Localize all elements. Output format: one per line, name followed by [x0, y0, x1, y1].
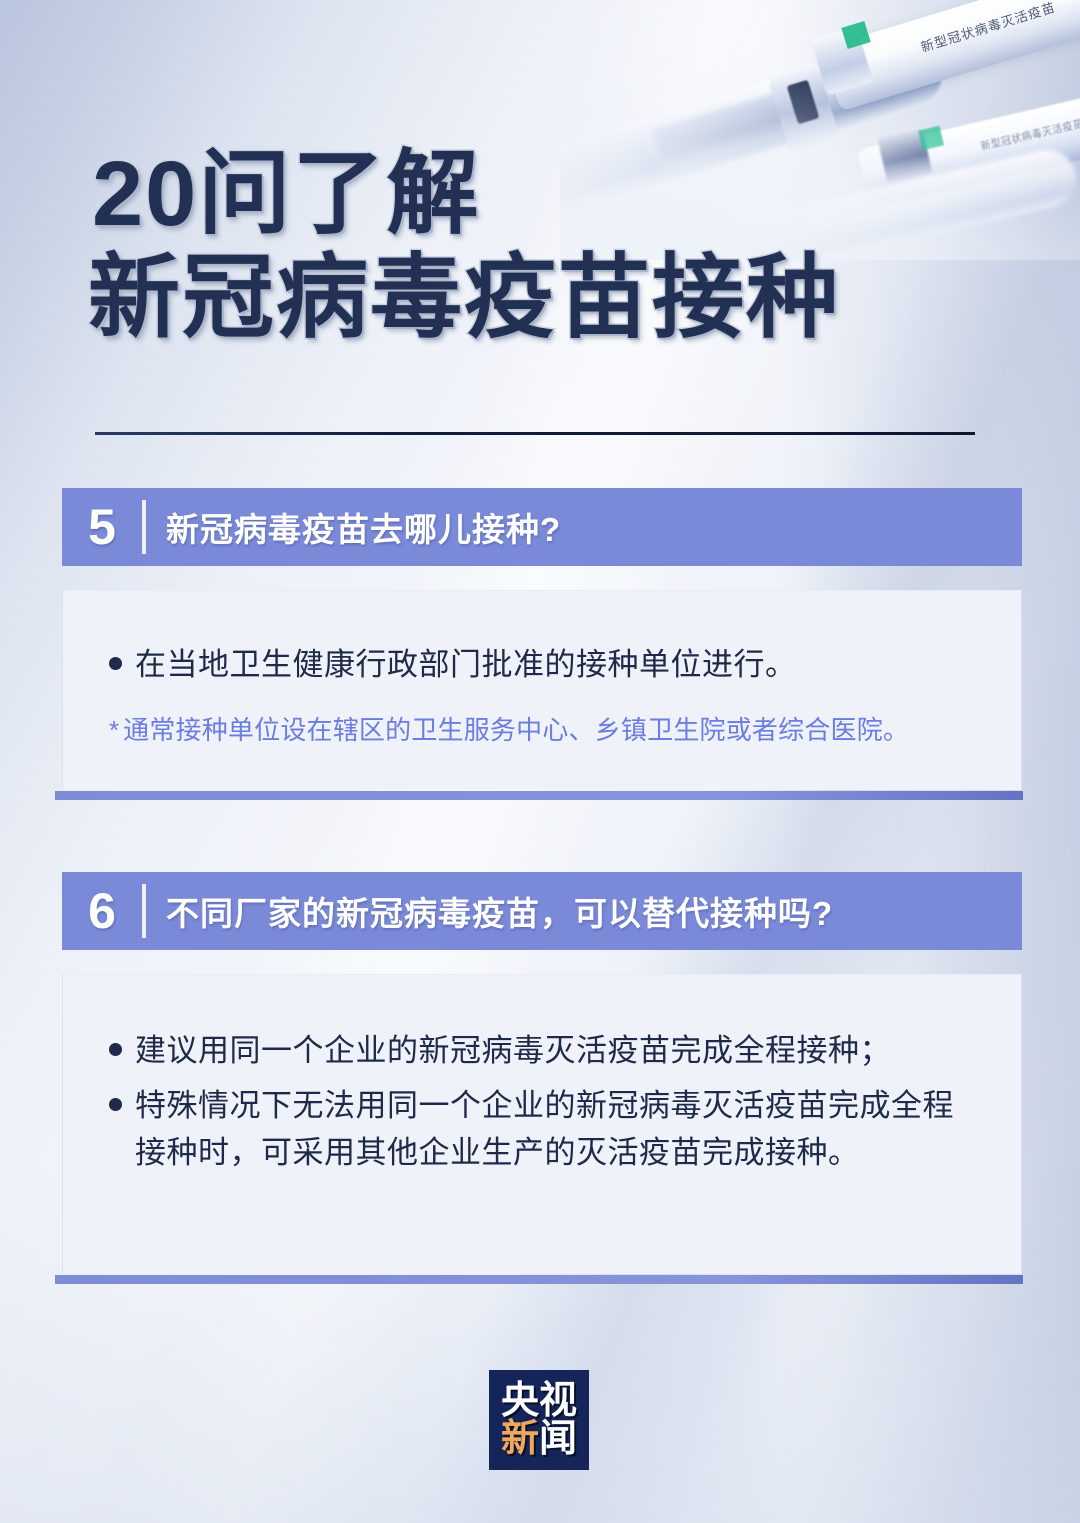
qa-block-5: 5 新冠病毒疫苗去哪儿接种? 在当地卫生健康行政部门批准的接种单位进行。 * 通…	[62, 488, 1022, 790]
title-line-2: 新冠病毒疫苗接种	[88, 244, 988, 352]
title-divider-rule	[95, 432, 975, 435]
asterisk-icon: *	[109, 710, 119, 750]
logo-char-yang: 央	[501, 1382, 539, 1420]
question-number-6: 6	[62, 884, 142, 938]
answer-bullet-text: 建议用同一个企业的新冠病毒灭活疫苗完成全程接种；	[135, 1027, 985, 1074]
answer-bullet: 在当地卫生健康行政部门批准的接种单位进行。	[109, 641, 985, 688]
question-header-6: 6 不同厂家的新冠病毒疫苗，可以替代接种吗?	[62, 872, 1022, 950]
answer-bullet: 建议用同一个企业的新冠病毒灭活疫苗完成全程接种；	[109, 1027, 985, 1074]
logo-char-xin: 新	[501, 1420, 539, 1458]
question-divider-6	[142, 884, 146, 938]
answer-bullet: 特殊情况下无法用同一个企业的新冠病毒灭活疫苗完成全程接种时，可采用其他企业生产的…	[109, 1082, 985, 1176]
answer-note-text: 通常接种单位设在辖区的卫生服务中心、乡镇卫生院或者综合医院。	[123, 710, 909, 750]
cctv-news-logo: 央 视 新 闻	[489, 1370, 589, 1470]
logo-char-wen: 闻	[539, 1420, 577, 1458]
question-header-5: 5 新冠病毒疫苗去哪儿接种?	[62, 488, 1022, 566]
logo-line-bottom: 新 闻	[501, 1420, 577, 1458]
poster-title: 20问了解 新冠病毒疫苗接种	[88, 140, 988, 352]
bullet-dot-icon	[109, 1043, 122, 1056]
answer-bullet-text: 在当地卫生健康行政部门批准的接种单位进行。	[135, 641, 985, 688]
question-divider-5	[142, 500, 146, 554]
bullet-dot-icon	[109, 1098, 122, 1111]
answer-note: * 通常接种单位设在辖区的卫生服务中心、乡镇卫生院或者综合医院。	[109, 710, 985, 750]
qa-block-6: 6 不同厂家的新冠病毒疫苗，可以替代接种吗? 建议用同一个企业的新冠病毒灭活疫苗…	[62, 872, 1022, 1274]
answer-card-5: 在当地卫生健康行政部门批准的接种单位进行。 * 通常接种单位设在辖区的卫生服务中…	[62, 590, 1022, 790]
answer-card-6: 建议用同一个企业的新冠病毒灭活疫苗完成全程接种； 特殊情况下无法用同一个企业的新…	[62, 974, 1022, 1274]
question-text-5: 新冠病毒疫苗去哪儿接种?	[166, 503, 561, 551]
logo-line-top: 央 视	[501, 1382, 577, 1420]
bullet-dot-icon	[109, 657, 122, 670]
question-number-5: 5	[62, 500, 142, 554]
question-text-6: 不同厂家的新冠病毒疫苗，可以替代接种吗?	[166, 887, 833, 935]
answer-bullet-text: 特殊情况下无法用同一个企业的新冠病毒灭活疫苗完成全程接种时，可采用其他企业生产的…	[135, 1082, 985, 1176]
title-line-1: 20问了解	[92, 140, 988, 248]
logo-char-shi: 视	[539, 1382, 577, 1420]
